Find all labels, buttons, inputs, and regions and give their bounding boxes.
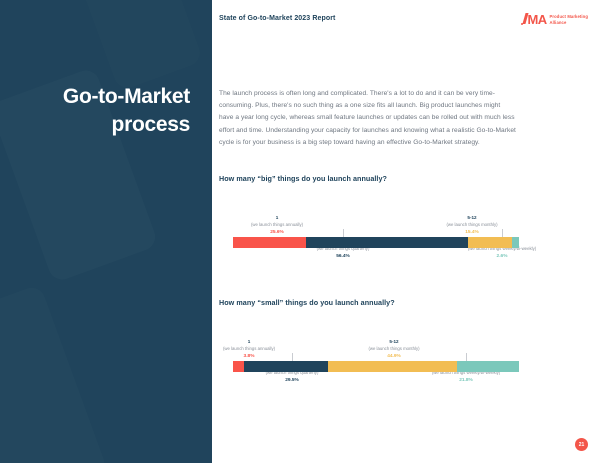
content-area: State of Go-to-Market 2023 Report MA Pro…: [212, 0, 600, 463]
label-percent: 56.4%: [317, 253, 370, 261]
chart-label-1: 1 (we launch things annually) 25.6%: [251, 215, 303, 237]
page-title-line-1: Go-to-Market: [63, 85, 190, 108]
label-percent: 25.6%: [251, 229, 303, 237]
bar-segment-2: [306, 237, 467, 248]
logo-mark: MA: [521, 13, 547, 26]
label-category: 5-12: [446, 215, 497, 222]
stacked-bar: [233, 361, 519, 372]
label-percent: 2.6%: [468, 253, 536, 261]
bar-segment-3: [468, 237, 512, 248]
label-percent: 44.9%: [368, 353, 419, 361]
chart-title: How many “big” things do you launch annu…: [219, 174, 519, 183]
bar-segment-3: [328, 361, 456, 372]
chart-title: How many “small” things do you launch an…: [219, 298, 519, 307]
body-paragraph: The launch process is often long and com…: [219, 88, 516, 149]
chart-area: 1 (we launch things annually) 3.8% 2-4 (…: [219, 323, 519, 409]
document-header: State of Go-to-Market 2023 Report: [219, 15, 336, 22]
logo-wordmark: Product Marketing Alliance: [550, 14, 588, 25]
label-category: 1: [251, 215, 303, 222]
label-percent: 15.4%: [446, 229, 497, 237]
logo-wordmark-line-1: Product Marketing: [550, 14, 588, 19]
bar-segment-2: [244, 361, 328, 372]
bar-segment-1: [233, 361, 244, 372]
decorative-shape-bottom: [0, 284, 108, 463]
label-description: (we launch things monthly): [368, 346, 419, 353]
left-title-panel: Go-to-Market process: [0, 0, 212, 463]
label-percent: 3.8%: [223, 353, 275, 361]
chart-area: 1 (we launch things annually) 25.6% 2-4 …: [219, 199, 519, 285]
logo-mark-text: MA: [528, 13, 547, 26]
chart-label-3: 5-12 (we launch things monthly) 44.9%: [368, 339, 419, 361]
label-description: (we launch things monthly): [446, 222, 497, 229]
chart-label-1: 1 (we launch things annually) 3.8%: [223, 339, 275, 361]
chart-small-things: How many “small” things do you launch an…: [219, 298, 519, 409]
page-number-badge: 21: [575, 438, 588, 451]
chart-big-things: How many “big” things do you launch annu…: [219, 174, 519, 285]
bar-segment-4: [512, 237, 519, 248]
label-description: (we launch things annually): [251, 222, 303, 229]
page-title-line-2: process: [112, 113, 190, 136]
label-category: 5-12: [368, 339, 419, 346]
label-percent: 29.5%: [266, 377, 319, 385]
label-description: (we launch things annually): [223, 346, 275, 353]
chart-label-3: 5-12 (we launch things monthly) 15.4%: [446, 215, 497, 237]
bar-segment-1: [233, 237, 306, 248]
stacked-bar: [233, 237, 519, 248]
label-percent: 21.8%: [432, 377, 500, 385]
page-title: Go-to-Market process: [10, 83, 190, 138]
bar-segment-4: [457, 361, 519, 372]
logo-wordmark-line-2: Alliance: [550, 20, 567, 25]
pma-logo: MA Product Marketing Alliance: [521, 13, 588, 26]
label-category: 1: [223, 339, 275, 346]
